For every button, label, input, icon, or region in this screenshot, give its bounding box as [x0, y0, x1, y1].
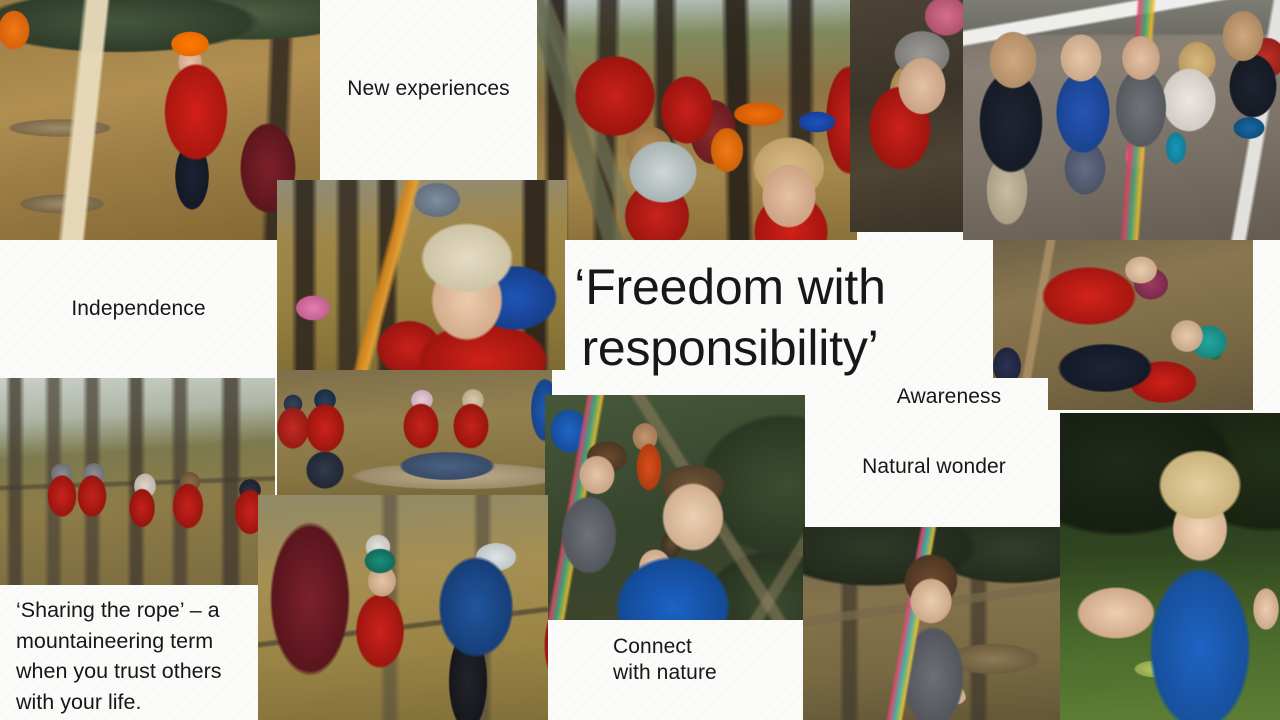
photo-closeup-child-with-stick[interactable]	[277, 180, 567, 370]
photo-group-of-children-sitting[interactable]	[963, 0, 1280, 240]
label-independence: Independence	[71, 296, 205, 322]
photo-children-in-puffy-coats[interactable]	[258, 495, 548, 720]
textbox-new-experiences: New experiences	[320, 0, 537, 178]
paragraph-sharing-the-rope: ‘Sharing the rope’ – a mountaineering te…	[16, 595, 242, 717]
textbox-independence: Independence	[0, 240, 277, 378]
textbox-sharing-the-rope: ‘Sharing the rope’ – a mountaineering te…	[0, 585, 258, 720]
label-awareness: Awareness	[897, 384, 1001, 410]
photo-children-hands-raised[interactable]	[537, 0, 857, 240]
photo-girl-holding-leaves[interactable]	[803, 527, 1061, 720]
label-natural-wonder: Natural wonder	[862, 454, 1006, 480]
photo-child-lying-with-leaf[interactable]	[850, 0, 965, 232]
textbox-awareness: Awareness	[850, 378, 1048, 416]
photo-children-on-log[interactable]	[277, 370, 552, 510]
textbox-connect-with-nature: Connect with nature	[548, 620, 803, 720]
slide-canvas: New experiences Independence ‘Freedom wi…	[0, 0, 1280, 720]
label-new-experiences: New experiences	[347, 76, 510, 102]
page-title: ‘Freedom with responsibility’	[573, 257, 887, 379]
label-with-nature: with nature	[613, 660, 717, 686]
photo-girl-with-leaf-on-grass[interactable]	[1060, 413, 1280, 720]
textbox-natural-wonder: Natural wonder	[820, 415, 1048, 520]
photo-children-walking-with-rope[interactable]	[0, 378, 275, 600]
photo-child-balancing-on-log[interactable]	[0, 0, 320, 240]
textbox-slide-title: ‘Freedom with responsibility’	[565, 240, 895, 395]
label-connect: Connect	[613, 634, 692, 660]
